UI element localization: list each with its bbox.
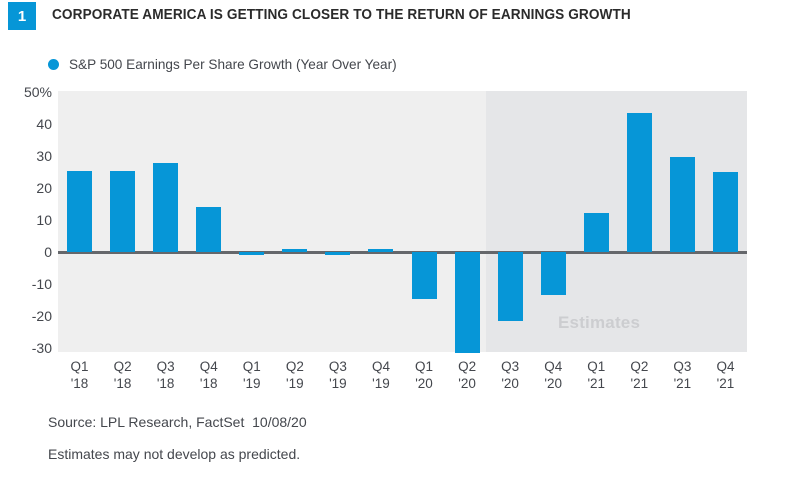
x-axis-tick-label: Q3'21 (673, 358, 691, 392)
y-axis-tick-label: 50% (4, 84, 52, 100)
x-tick-year: '20 (544, 375, 562, 392)
x-tick-year: '18 (114, 375, 132, 392)
bar (713, 172, 738, 252)
bar (282, 249, 307, 252)
bar (196, 207, 221, 252)
x-tick-year: '21 (716, 375, 734, 392)
estimates-annotation: Estimates (558, 313, 640, 333)
x-axis: Q1'18Q2'18Q3'18Q4'18Q1'19Q2'19Q3'19Q4'19… (58, 358, 747, 402)
x-tick-quarter: Q3 (673, 358, 691, 375)
y-axis-tick-label: 20 (4, 180, 52, 196)
x-axis-tick-label: Q2'19 (286, 358, 304, 392)
x-tick-quarter: Q2 (630, 358, 648, 375)
bar (239, 252, 264, 255)
x-tick-quarter: Q2 (458, 358, 476, 375)
page-title: CORPORATE AMERICA IS GETTING CLOSER TO T… (52, 7, 631, 23)
y-axis-tick-label: 10 (4, 212, 52, 228)
x-tick-quarter: Q1 (71, 358, 89, 375)
x-tick-year: '20 (458, 375, 476, 392)
bar (412, 252, 437, 299)
x-tick-quarter: Q1 (415, 358, 433, 375)
y-axis: 50%403020100-10-20-30 (0, 0, 52, 492)
x-tick-quarter: Q1 (587, 358, 605, 375)
source-text: Source: LPL Research, FactSet 10/08/20 (48, 414, 307, 430)
x-tick-quarter: Q3 (157, 358, 175, 375)
y-axis-tick-label: -10 (4, 276, 52, 292)
x-tick-year: '18 (71, 375, 89, 392)
chart-header: 1 CORPORATE AMERICA IS GETTING CLOSER TO… (0, 0, 789, 33)
y-axis-tick-label: -20 (4, 308, 52, 324)
x-axis-tick-label: Q2'20 (458, 358, 476, 392)
y-axis-tick-label: 40 (4, 116, 52, 132)
x-axis-tick-label: Q1'21 (587, 358, 605, 392)
x-axis-tick-label: Q3'20 (501, 358, 519, 392)
x-axis-tick-label: Q3'18 (157, 358, 175, 392)
x-tick-quarter: Q2 (114, 358, 132, 375)
bar (541, 252, 566, 295)
bar (455, 252, 480, 353)
x-axis-tick-label: Q1'20 (415, 358, 433, 392)
x-axis-tick-label: Q2'21 (630, 358, 648, 392)
x-tick-year: '18 (157, 375, 175, 392)
x-tick-year: '19 (372, 375, 390, 392)
x-tick-year: '19 (329, 375, 347, 392)
bar (153, 163, 178, 252)
x-tick-quarter: Q4 (200, 358, 218, 375)
y-axis-tick-label: 30 (4, 148, 52, 164)
x-tick-quarter: Q2 (286, 358, 304, 375)
x-tick-quarter: Q3 (329, 358, 347, 375)
plot-area: Estimates (58, 91, 747, 352)
x-tick-year: '19 (286, 375, 304, 392)
x-axis-tick-label: Q2'18 (114, 358, 132, 392)
x-tick-quarter: Q1 (243, 358, 261, 375)
x-tick-quarter: Q4 (372, 358, 390, 375)
x-tick-year: '20 (415, 375, 433, 392)
bar (368, 249, 393, 252)
x-tick-quarter: Q4 (544, 358, 562, 375)
chart-footer: Source: LPL Research, FactSet 10/08/20 E… (48, 414, 307, 462)
x-axis-tick-label: Q4'18 (200, 358, 218, 392)
x-axis-tick-label: Q4'19 (372, 358, 390, 392)
bar (627, 113, 652, 252)
chart-legend: S&P 500 Earnings Per Share Growth (Year … (48, 56, 407, 72)
bar (110, 171, 135, 252)
x-tick-quarter: Q4 (716, 358, 734, 375)
x-tick-year: '21 (587, 375, 605, 392)
x-tick-quarter: Q3 (501, 358, 519, 375)
x-tick-year: '18 (200, 375, 218, 392)
bar (325, 252, 350, 255)
bar (67, 171, 92, 252)
x-tick-year: '21 (673, 375, 691, 392)
x-tick-year: '20 (501, 375, 519, 392)
bar (584, 213, 609, 252)
x-axis-tick-label: Q4'20 (544, 358, 562, 392)
bar (498, 252, 523, 321)
x-axis-tick-label: Q3'19 (329, 358, 347, 392)
y-axis-tick-label: 0 (4, 244, 52, 260)
legend-series-label: S&P 500 Earnings Per Share Growth (Year … (69, 56, 397, 72)
x-tick-year: '21 (630, 375, 648, 392)
x-axis-tick-label: Q4'21 (716, 358, 734, 392)
bar (670, 157, 695, 252)
disclaimer-text: Estimates may not develop as predicted. (48, 446, 307, 462)
x-axis-tick-label: Q1'18 (71, 358, 89, 392)
y-axis-tick-label: -30 (4, 340, 52, 356)
x-tick-year: '19 (243, 375, 261, 392)
x-axis-tick-label: Q1'19 (243, 358, 261, 392)
